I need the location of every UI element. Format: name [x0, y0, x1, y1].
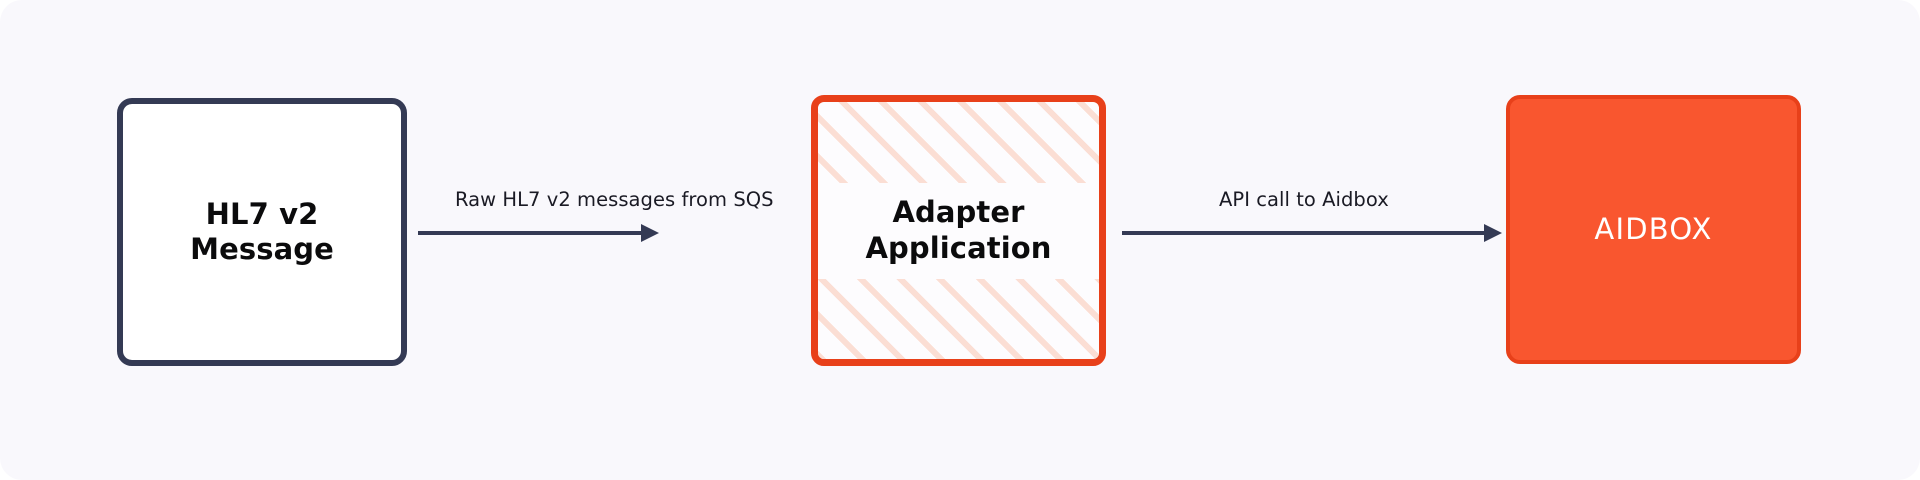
- node-aidbox-label: AIDBOX: [1594, 212, 1712, 247]
- arrow-adapter-to-aidbox: [1122, 231, 1485, 235]
- node-adapter-application-label: Adapter Application: [865, 195, 1051, 266]
- arrow-label-api-call-to-aidbox: API call to Aidbox: [1219, 188, 1389, 211]
- node-aidbox[interactable]: AIDBOX: [1506, 95, 1801, 364]
- diagram-canvas: HL7 v2 Message Raw HL7 v2 messages from …: [0, 0, 1920, 480]
- arrow-label-raw-hl7-v2-messages-from-sqs: Raw HL7 v2 messages from SQS: [455, 188, 774, 211]
- arrow-hl7-to-adapter: [418, 231, 642, 235]
- node-hl7-v2-message-label: HL7 v2 Message: [190, 197, 334, 268]
- node-adapter-application[interactable]: Adapter Application: [811, 95, 1106, 366]
- node-hl7-v2-message[interactable]: HL7 v2 Message: [117, 98, 407, 366]
